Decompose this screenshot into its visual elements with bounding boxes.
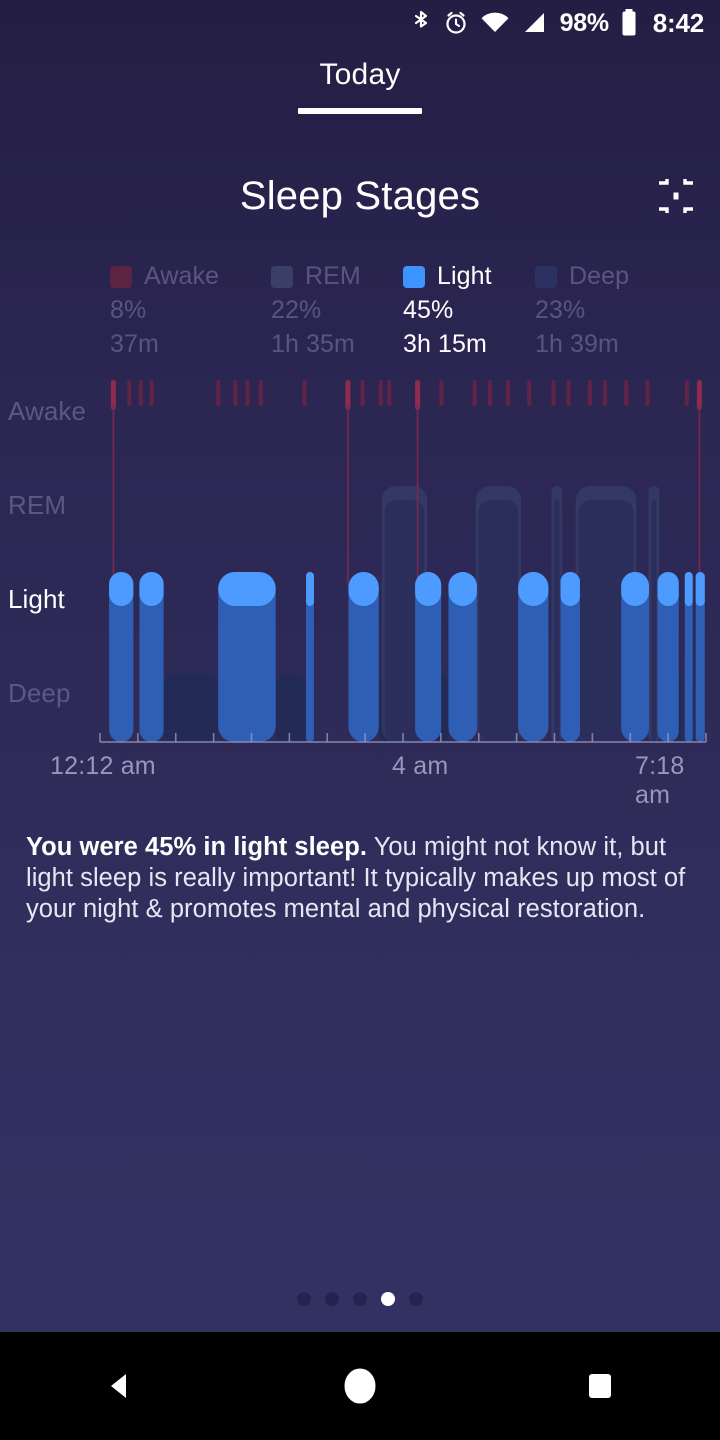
page-dot[interactable] bbox=[297, 1292, 311, 1306]
legend-duration-light: 3h 15m bbox=[403, 330, 535, 359]
chart-tick-awake bbox=[624, 380, 628, 406]
y-axis-label-awake: Awake bbox=[8, 396, 86, 427]
chart-tick-awake bbox=[488, 380, 492, 406]
chart-tick-awake bbox=[139, 380, 143, 406]
chart-tick-awake bbox=[567, 380, 571, 406]
y-axis-label-deep: Deep bbox=[8, 678, 71, 709]
chart-segment-light-cap bbox=[696, 572, 705, 606]
tab-today[interactable]: Today bbox=[319, 58, 400, 92]
legend-swatch-awake bbox=[110, 266, 132, 288]
legend-duration-deep: 1h 39m bbox=[535, 330, 675, 359]
chart-tick-awake bbox=[302, 380, 306, 406]
chart-tick-awake bbox=[216, 380, 220, 406]
chart-segment-deep bbox=[276, 674, 306, 742]
chart-tick-awake bbox=[233, 380, 237, 406]
x-axis-label-end: 7:18 am bbox=[635, 752, 720, 810]
page-indicator bbox=[0, 1292, 720, 1306]
y-axis-label-light: Light bbox=[8, 584, 65, 615]
collapse-fullscreen-icon[interactable] bbox=[658, 178, 694, 214]
chart-segment-light-cap bbox=[109, 572, 133, 606]
chart-tick-awake bbox=[439, 380, 443, 406]
page-dot[interactable] bbox=[325, 1292, 339, 1306]
legend-label-rem: REM bbox=[305, 262, 361, 291]
chart-tick-awake bbox=[551, 380, 555, 406]
chart-segment-light-cap bbox=[139, 572, 163, 606]
x-axis-label-middle: 4 am bbox=[392, 752, 448, 781]
legend-swatch-light bbox=[403, 266, 425, 288]
chart-segment-light-cap bbox=[348, 572, 378, 606]
tab-active-indicator bbox=[298, 108, 422, 114]
legend-item-rem[interactable]: REM 22% 1h 35m bbox=[271, 262, 403, 359]
stage-legend: Awake 8% 37m REM 22% 1h 35m Light 45% 3h… bbox=[110, 262, 692, 359]
chart-segment-light-cap bbox=[448, 572, 476, 606]
chart-segment-light-cap bbox=[518, 572, 548, 606]
page-dot[interactable] bbox=[353, 1292, 367, 1306]
chart-tick-awake bbox=[379, 380, 383, 406]
legend-percent-deep: 23% bbox=[535, 296, 675, 325]
legend-item-deep[interactable]: Deep 23% 1h 39m bbox=[535, 262, 675, 359]
chart-segment-light-cap bbox=[561, 572, 580, 606]
chart-awake-stem bbox=[113, 404, 115, 586]
chart-tick-awake bbox=[603, 380, 607, 406]
chart-tick-awake bbox=[506, 380, 510, 406]
chart-tick-awake bbox=[588, 380, 592, 406]
description-lead: You were 45% in light sleep. bbox=[26, 833, 367, 861]
legend-label-deep: Deep bbox=[569, 262, 629, 291]
chart-segment-deep bbox=[164, 674, 219, 742]
chart-tick-awake bbox=[361, 380, 365, 406]
legend-percent-awake: 8% bbox=[110, 296, 271, 325]
back-triangle-icon[interactable] bbox=[60, 1332, 180, 1440]
recents-square-icon[interactable] bbox=[540, 1332, 660, 1440]
chart-segment-rem-inner bbox=[554, 500, 559, 742]
chart-segment-rem-inner bbox=[651, 500, 656, 742]
sleep-stages-chart[interactable]: Awake REM Light Deep bbox=[0, 380, 720, 790]
page-dot[interactable] bbox=[381, 1292, 395, 1306]
cellular-signal-icon bbox=[521, 9, 547, 37]
chart-tick-awake bbox=[150, 380, 154, 406]
legend-swatch-deep bbox=[535, 266, 557, 288]
chart-awake-stem bbox=[417, 404, 419, 586]
page-title: Sleep Stages bbox=[240, 174, 480, 219]
bluetooth-icon bbox=[410, 9, 432, 37]
chart-tick-awake bbox=[387, 380, 391, 406]
app-screen: 98% 8:42 Today Sleep Stages bbox=[0, 0, 720, 1440]
legend-label-awake: Awake bbox=[144, 262, 219, 291]
tab-bar: Today bbox=[0, 58, 720, 114]
card-header: Sleep Stages bbox=[0, 166, 720, 226]
chart-segment-light-cap bbox=[415, 572, 441, 606]
legend-item-light[interactable]: Light 45% 3h 15m bbox=[403, 262, 535, 359]
legend-percent-light: 45% bbox=[403, 296, 535, 325]
chart-segment-light-cap bbox=[621, 572, 649, 606]
chart-tick-awake bbox=[473, 380, 477, 406]
alarm-icon bbox=[443, 9, 469, 37]
chart-awake-stem bbox=[347, 404, 349, 586]
legend-percent-rem: 22% bbox=[271, 296, 403, 325]
sleep-stages-plot bbox=[0, 380, 720, 760]
battery-percent-label: 98% bbox=[560, 9, 609, 38]
legend-swatch-rem bbox=[271, 266, 293, 288]
wifi-icon bbox=[480, 9, 510, 37]
chart-tick-awake bbox=[127, 380, 131, 406]
status-bar: 98% 8:42 bbox=[0, 0, 720, 46]
legend-item-awake[interactable]: Awake 8% 37m bbox=[110, 262, 271, 359]
chart-tick-awake bbox=[245, 380, 249, 406]
x-axis-label-start: 12:12 am bbox=[50, 752, 156, 781]
x-axis: 12:12 am 4 am 7:18 am bbox=[0, 752, 720, 792]
page-dot[interactable] bbox=[409, 1292, 423, 1306]
chart-segment-light-cap bbox=[685, 572, 693, 606]
chart-segment-light-cap bbox=[218, 572, 276, 606]
android-nav-bar bbox=[0, 1332, 720, 1440]
chart-awake-stem bbox=[699, 404, 701, 586]
home-circle-icon[interactable] bbox=[300, 1332, 420, 1440]
chart-tick-awake bbox=[645, 380, 649, 406]
chart-tick-awake bbox=[259, 380, 263, 406]
chart-segment-light-cap bbox=[658, 572, 679, 606]
chart-segment-light-cap bbox=[306, 572, 314, 606]
chart-tick-awake bbox=[685, 380, 689, 406]
battery-icon bbox=[620, 8, 638, 38]
stage-description: You were 45% in light sleep. You might n… bbox=[26, 832, 694, 925]
chart-tick-awake bbox=[527, 380, 531, 406]
chart-segment-rem-inner bbox=[479, 500, 518, 742]
legend-duration-awake: 37m bbox=[110, 330, 271, 359]
y-axis-label-rem: REM bbox=[8, 490, 66, 521]
legend-label-light: Light bbox=[437, 262, 492, 291]
legend-duration-rem: 1h 35m bbox=[271, 330, 403, 359]
status-clock: 8:42 bbox=[653, 8, 704, 39]
